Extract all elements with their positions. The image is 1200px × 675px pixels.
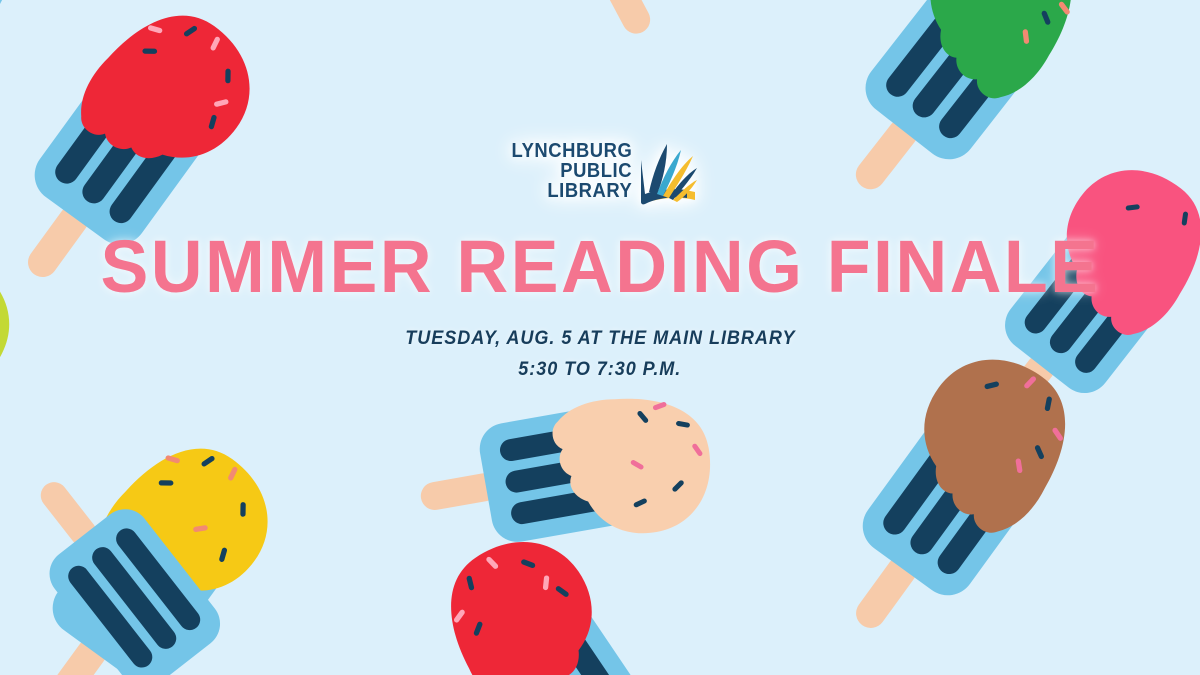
- poster-content: LYNCHBURG PUBLIC LIBRARY SUMMER READING …: [0, 0, 1200, 675]
- open-book-icon: [637, 140, 699, 206]
- page-title: SUMMER READING FINALE: [100, 230, 1100, 304]
- event-details-line-2: 5:30 TO 7:30 P.M.: [519, 355, 682, 384]
- poster-canvas: LYNCHBURG PUBLIC LIBRARY SUMMER READING …: [0, 0, 1200, 675]
- logo-line-3: LIBRARY: [547, 182, 632, 202]
- logo-wordmark: LYNCHBURG PUBLIC LIBRARY: [501, 142, 632, 201]
- event-details-line-1: TUESDAY, AUG. 5 AT THE MAIN LIBRARY: [405, 324, 795, 353]
- lynchburg-public-library-logo: LYNCHBURG PUBLIC LIBRARY: [501, 138, 699, 206]
